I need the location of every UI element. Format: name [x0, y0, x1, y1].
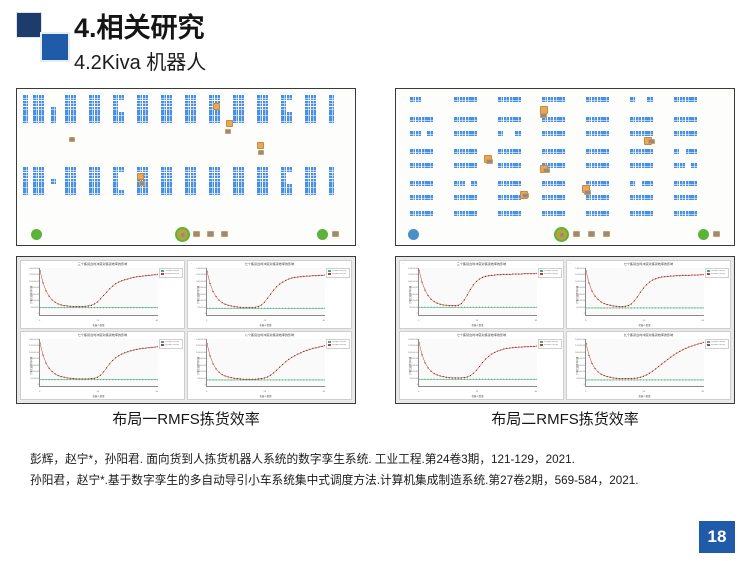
chart-data-point — [118, 355, 119, 356]
chart-data-point — [518, 347, 519, 348]
rack-cell — [287, 167, 292, 172]
rack-cell — [209, 167, 214, 172]
chart-data-point — [586, 343, 587, 344]
chart-data-point — [297, 277, 298, 278]
rack-cell — [311, 167, 316, 172]
rack-cell — [305, 107, 310, 112]
chart-data-point — [509, 307, 510, 308]
chart-data-point — [470, 379, 471, 380]
rack-cell — [23, 118, 28, 123]
chart-data-point — [679, 351, 680, 352]
chart-data-point — [449, 305, 450, 306]
chart-data-point — [530, 273, 531, 274]
rack-cell — [548, 195, 553, 200]
chart-data-point — [682, 275, 683, 276]
rack-cell — [548, 211, 553, 216]
rack-cell — [185, 95, 190, 100]
chart-data-point — [130, 379, 131, 380]
logo-square-light — [40, 32, 70, 62]
chart-data-point — [497, 307, 498, 308]
rack-cell — [559, 181, 564, 186]
chart-data-point — [279, 379, 280, 380]
chart-data-point — [464, 379, 465, 380]
chart-plot-area — [39, 268, 158, 316]
chart-data-point — [61, 307, 62, 308]
rack-cell — [598, 149, 603, 154]
rack-cell — [23, 190, 28, 195]
chart-y-tick: 60.00.00 — [30, 294, 39, 297]
chart-data-point — [70, 306, 71, 307]
chart-data-point — [52, 299, 53, 300]
chart-data-point — [640, 377, 641, 378]
chart-y-tick: 140.00.00 — [408, 268, 418, 271]
chart-data-point — [133, 350, 134, 351]
chart-y-tick: 80.00.00 — [576, 287, 585, 290]
chart-data-point — [479, 366, 480, 367]
chart-data-point — [288, 359, 289, 360]
chart-y-tick: 60.00.00 — [409, 294, 418, 297]
chart-data-point — [300, 352, 301, 353]
chart-data-point — [228, 379, 229, 380]
rack-cell — [161, 118, 166, 123]
chart-data-point — [213, 291, 214, 292]
reference-list: 彭辉，赵宁*，孙阳君. 面向货到人拣货机器人系统的数字孪生系统. 工业工程.第2… — [30, 450, 720, 492]
rack-cell — [422, 181, 427, 186]
rack-cell — [167, 167, 172, 172]
chart-data-point — [619, 307, 620, 308]
chart-data-point — [270, 308, 271, 309]
chart-data-point — [446, 379, 447, 380]
chart-data-point — [219, 300, 220, 301]
rack-cell — [233, 179, 238, 184]
chart-data-point — [103, 307, 104, 308]
chart-data-point — [482, 277, 483, 278]
rack-cell — [65, 107, 70, 112]
chart-data-point — [252, 308, 253, 309]
chart-data-point — [634, 307, 635, 308]
chart-data-point — [40, 342, 41, 343]
rack-cell — [691, 195, 696, 200]
chart-data-point — [258, 306, 259, 307]
rack-cell — [311, 173, 316, 178]
rack-cell — [548, 131, 553, 136]
rack-cell — [209, 173, 214, 178]
chart-data-point — [443, 304, 444, 305]
picking-station-active — [177, 229, 188, 240]
rack-cell — [209, 112, 214, 117]
rack-cell — [586, 131, 591, 136]
chart-data-point — [697, 275, 698, 276]
rack-cell — [89, 190, 94, 195]
chart-data-point — [515, 307, 516, 308]
chart-data-point — [610, 377, 611, 378]
chart-y-tick: 20.00.00 — [30, 378, 39, 381]
rack-cell — [592, 131, 597, 136]
rack-cell — [167, 112, 172, 117]
chart-title: 七个拣货台时冲突对拣货效率的影响 — [21, 333, 184, 338]
rack-cell — [95, 95, 100, 100]
rack-cell — [305, 184, 310, 189]
chart-data-point — [598, 379, 599, 380]
rack-cell — [592, 195, 597, 200]
reference-item: 彭辉，赵宁*，孙阳君. 面向货到人拣货机器人系统的数字孪生系统. 工业工程.第2… — [30, 450, 720, 469]
chart-data-point — [655, 278, 656, 279]
rack-cell — [454, 211, 459, 216]
chart-y-tick: 140.00.00 — [29, 268, 39, 271]
chart-data-point — [616, 379, 617, 380]
rack-cell — [89, 95, 94, 100]
rack-cell — [460, 149, 465, 154]
chart-data-point — [315, 275, 316, 276]
rack-cell — [281, 112, 286, 117]
chart-data-point — [73, 306, 74, 307]
rack-cell — [281, 179, 286, 184]
rack-cell — [636, 149, 641, 154]
storage-pod — [213, 103, 220, 110]
chart-data-point — [273, 372, 274, 373]
chart-data-point — [216, 308, 217, 309]
rack-cell — [410, 195, 415, 200]
chart-data-point — [524, 307, 525, 308]
rack-cell — [680, 195, 685, 200]
chart-y-tick: 20.00.00 — [197, 307, 206, 310]
chart-data-point — [67, 377, 68, 378]
rack-cell — [209, 184, 214, 189]
logo-square-dark — [16, 12, 42, 38]
chart-series-canvas — [586, 268, 704, 315]
chart-data-point — [646, 374, 647, 375]
chart-y-tick: 40.00.00 — [30, 371, 39, 374]
chart-data-point — [437, 303, 438, 304]
rack-cell — [239, 95, 244, 100]
chart-y-tick: 120.00.00 — [29, 345, 39, 348]
chart-data-point — [446, 305, 447, 306]
chart-legend-swatch — [707, 270, 710, 272]
chart-data-point — [491, 275, 492, 276]
rack-cell — [647, 211, 652, 216]
rack-cell — [39, 118, 44, 123]
chart-data-point — [527, 346, 528, 347]
chart-data-point — [267, 298, 268, 299]
rack-cell — [311, 184, 316, 189]
chart-data-point — [506, 274, 507, 275]
chart-legend-swatch — [328, 341, 331, 343]
chart-data-point — [157, 379, 158, 380]
chart-data-point — [694, 379, 695, 380]
chart-data-point — [94, 303, 95, 304]
rack-cell — [143, 167, 148, 172]
chart-x-ticks: 02040 — [206, 320, 325, 323]
chart-data-point — [46, 290, 47, 291]
chart-data-point — [530, 307, 531, 308]
rack-cell — [510, 195, 515, 200]
rack-cell — [191, 190, 196, 195]
chart-data-point — [482, 362, 483, 363]
chart-data-point — [127, 307, 128, 308]
rack-cell — [454, 195, 459, 200]
chart-data-point — [309, 349, 310, 350]
chart-data-point — [619, 379, 620, 380]
chart-data-point — [601, 374, 602, 375]
chart-x-tick: 0 — [418, 320, 419, 323]
chart-data-point — [91, 378, 92, 379]
rack-cell — [65, 95, 70, 100]
mini-chart: —七个拣货台时冲突对拣货效率的影响订单完成平均时间140.00.00120.00… — [566, 260, 731, 329]
rack-cell — [167, 118, 172, 123]
rack-cell — [586, 195, 591, 200]
rack-cell — [137, 118, 142, 123]
chart-data-point — [88, 307, 89, 308]
chart-legend-swatch — [540, 344, 543, 346]
chart-x-tick: 0 — [585, 320, 586, 323]
rack-cell — [39, 184, 44, 189]
chart-data-point — [255, 307, 256, 308]
rack-cell — [71, 167, 76, 172]
chart-data-point — [73, 307, 74, 308]
chart-y-tick: 120.00.00 — [196, 345, 206, 348]
chart-data-point — [103, 295, 104, 296]
rack-cell — [51, 179, 56, 184]
chart-x-tick: 20 — [97, 391, 99, 394]
chart-y-tick: 80.00.00 — [30, 287, 39, 290]
chart-data-point — [622, 306, 623, 307]
chart-series-canvas — [419, 339, 537, 386]
chart-data-point — [276, 308, 277, 309]
rack-cell — [257, 179, 262, 184]
rack-cell — [674, 181, 679, 186]
chart-legend-item: 有冲突平均时间 — [328, 344, 348, 346]
rack-cell — [113, 101, 118, 106]
rack-cell — [137, 190, 142, 195]
chart-data-point — [145, 275, 146, 276]
rack-cell — [143, 101, 148, 106]
chart-group-layout-2: —三个拣货台时冲突对拣货效率的影响订单完成平均时间140.00.00120.00… — [395, 256, 735, 404]
rack-cell — [674, 163, 679, 168]
rack-cell — [636, 163, 641, 168]
chart-data-point — [100, 298, 101, 299]
rack-cell — [410, 211, 415, 216]
chart-data-point — [485, 307, 486, 308]
rack-cell — [23, 173, 28, 178]
chart-data-point — [49, 368, 50, 369]
chart-data-point — [658, 307, 659, 308]
chart-y-tick: 100.00.00 — [196, 352, 206, 355]
chart-y-tick: 100.00.00 — [575, 352, 585, 355]
chart-data-point — [458, 305, 459, 306]
chart-data-point — [273, 290, 274, 291]
rack-cell — [281, 107, 286, 112]
chart-data-point — [55, 373, 56, 374]
chart-legend-label: 有冲突平均时间 — [544, 273, 558, 275]
chart-y-tick: 100.00.00 — [29, 281, 39, 284]
rack-cell — [498, 117, 503, 122]
chart-data-point — [318, 379, 319, 380]
rack-cell — [191, 179, 196, 184]
chart-data-point — [237, 379, 238, 380]
chart-y-tick: 60.00.00 — [30, 365, 39, 368]
chart-y-tick: 20.00.00 — [576, 378, 585, 381]
chart-data-point — [240, 379, 241, 380]
chart-y-tick: 140.00.00 — [196, 339, 206, 342]
rack-cell — [287, 184, 292, 189]
chart-data-point — [467, 294, 468, 295]
chart-y-tick: 100.00.00 — [408, 281, 418, 284]
rack-cell — [287, 95, 292, 100]
chart-data-point — [303, 308, 304, 309]
chart-data-point — [124, 352, 125, 353]
rack-cell — [215, 173, 220, 178]
rack-cell — [185, 167, 190, 172]
rack-cell — [239, 179, 244, 184]
chart-data-point — [279, 284, 280, 285]
chart-data-point — [109, 379, 110, 380]
chart-data-point — [46, 379, 47, 380]
chart-data-point — [461, 379, 462, 380]
chart-data-point — [452, 379, 453, 380]
chart-data-point — [225, 379, 226, 380]
rack-cell — [630, 195, 635, 200]
chart-data-point — [485, 379, 486, 380]
chart-data-point — [136, 276, 137, 277]
rack-cell — [647, 131, 652, 136]
chart-title: 七个拣货台时冲突对拣货效率的影响 — [188, 262, 351, 267]
chart-data-point — [121, 280, 122, 281]
chart-legend-swatch — [707, 344, 710, 346]
kiva-robot — [139, 181, 145, 186]
chart-data-point — [622, 378, 623, 379]
chart-data-point — [655, 368, 656, 369]
chart-x-tick: 40 — [702, 320, 704, 323]
chart-data-point — [476, 370, 477, 371]
chart-data-point — [691, 379, 692, 380]
rack-cell — [680, 211, 685, 216]
chart-y-ticks: 140.00.00120.00.00100.00.0080.00.0060.00… — [572, 268, 585, 316]
chart-y-tick: 80.00.00 — [576, 358, 585, 361]
chart-data-point — [488, 275, 489, 276]
chart-data-point — [533, 273, 534, 274]
rack-cell — [498, 149, 503, 154]
rack-cell — [630, 131, 635, 136]
chart-plot-area — [418, 268, 537, 316]
chart-data-point — [40, 307, 41, 308]
chart-data-point — [473, 373, 474, 374]
chart-y-tick: 80.00.00 — [197, 287, 206, 290]
mini-chart: —七个拣货台时冲突对拣货效率的影响订单完成平均时间140.00.00120.00… — [187, 260, 352, 329]
chart-plot-area — [418, 339, 537, 387]
chart-data-point — [643, 376, 644, 377]
chart-data-point — [421, 307, 422, 308]
chart-data-point — [449, 379, 450, 380]
rack-cell — [215, 190, 220, 195]
chart-data-point — [270, 294, 271, 295]
rack-cell — [263, 184, 268, 189]
rack-cell — [233, 167, 238, 172]
chart-data-point — [79, 306, 80, 307]
rack-cell — [504, 163, 509, 168]
rack-cell — [603, 181, 608, 186]
rack-cell — [311, 101, 316, 106]
kiva-robot — [69, 137, 75, 142]
rack-cell — [410, 117, 415, 122]
chart-data-point — [625, 379, 626, 380]
chart-data-point — [661, 307, 662, 308]
rack-cell — [263, 190, 268, 195]
chart-y-tick: 120.00.00 — [196, 274, 206, 277]
rack-cell — [89, 184, 94, 189]
chart-x-ticks: 02040 — [39, 320, 158, 323]
chart-legend-item: 有冲突平均时间 — [707, 273, 727, 275]
chart-data-point — [209, 308, 210, 309]
chart-y-tick: 40.00.00 — [576, 371, 585, 374]
chart-data-point — [640, 292, 641, 293]
chart-data-point — [55, 302, 56, 303]
chart-data-point — [49, 307, 50, 308]
chart-legend-swatch — [161, 344, 164, 346]
rack-cell — [586, 149, 591, 154]
rack-cell — [471, 211, 476, 216]
rack-cell — [691, 131, 696, 136]
chart-data-point — [586, 270, 587, 271]
chart-data-point — [70, 378, 71, 379]
chart-data-point — [419, 342, 420, 343]
rack-cell — [504, 211, 509, 216]
chart-data-point — [512, 307, 513, 308]
chart-data-point — [148, 379, 149, 380]
rack-cell — [33, 173, 38, 178]
rack-cell — [167, 184, 172, 189]
rack-cell — [311, 112, 316, 117]
chart-data-point — [425, 379, 426, 380]
chart-data-point — [291, 379, 292, 380]
chart-data-point — [421, 379, 422, 380]
kiva-robot — [225, 129, 231, 134]
chart-data-point — [46, 307, 47, 308]
rack-cell — [239, 118, 244, 123]
chart-x-ticks: 02040 — [418, 391, 537, 394]
mini-chart: —三个拣货台时冲突对拣货效率的影响订单完成平均时间140.00.00120.00… — [399, 260, 564, 329]
chart-data-point — [664, 307, 665, 308]
rack-cell — [630, 211, 635, 216]
rack-cell — [515, 117, 520, 122]
chart-y-tick: 140.00.00 — [196, 268, 206, 271]
chart-data-point — [434, 373, 435, 374]
rack-cell — [554, 181, 559, 186]
chart-data-point — [425, 290, 426, 291]
chart-data-point — [667, 307, 668, 308]
rack-cell — [191, 101, 196, 106]
chart-data-point — [300, 308, 301, 309]
rack-cell — [137, 112, 142, 117]
chart-data-point — [40, 270, 41, 271]
picking-station — [698, 229, 709, 240]
chart-data-point — [673, 276, 674, 277]
chart-y-tick: 40.00.00 — [576, 300, 585, 303]
chart-data-point — [219, 379, 220, 380]
chart-data-point — [682, 307, 683, 308]
kiva-robot-queued — [573, 231, 580, 237]
chart-data-point — [688, 379, 689, 380]
rack-cell — [559, 163, 564, 168]
rack-cell — [674, 211, 679, 216]
chart-data-point — [491, 307, 492, 308]
chart-data-point — [700, 274, 701, 275]
rack-cell — [95, 107, 100, 112]
chart-data-point — [631, 378, 632, 379]
chart-data-point — [643, 288, 644, 289]
chart-data-point — [249, 379, 250, 380]
chart-data-point — [324, 345, 325, 346]
rack-cell — [191, 167, 196, 172]
